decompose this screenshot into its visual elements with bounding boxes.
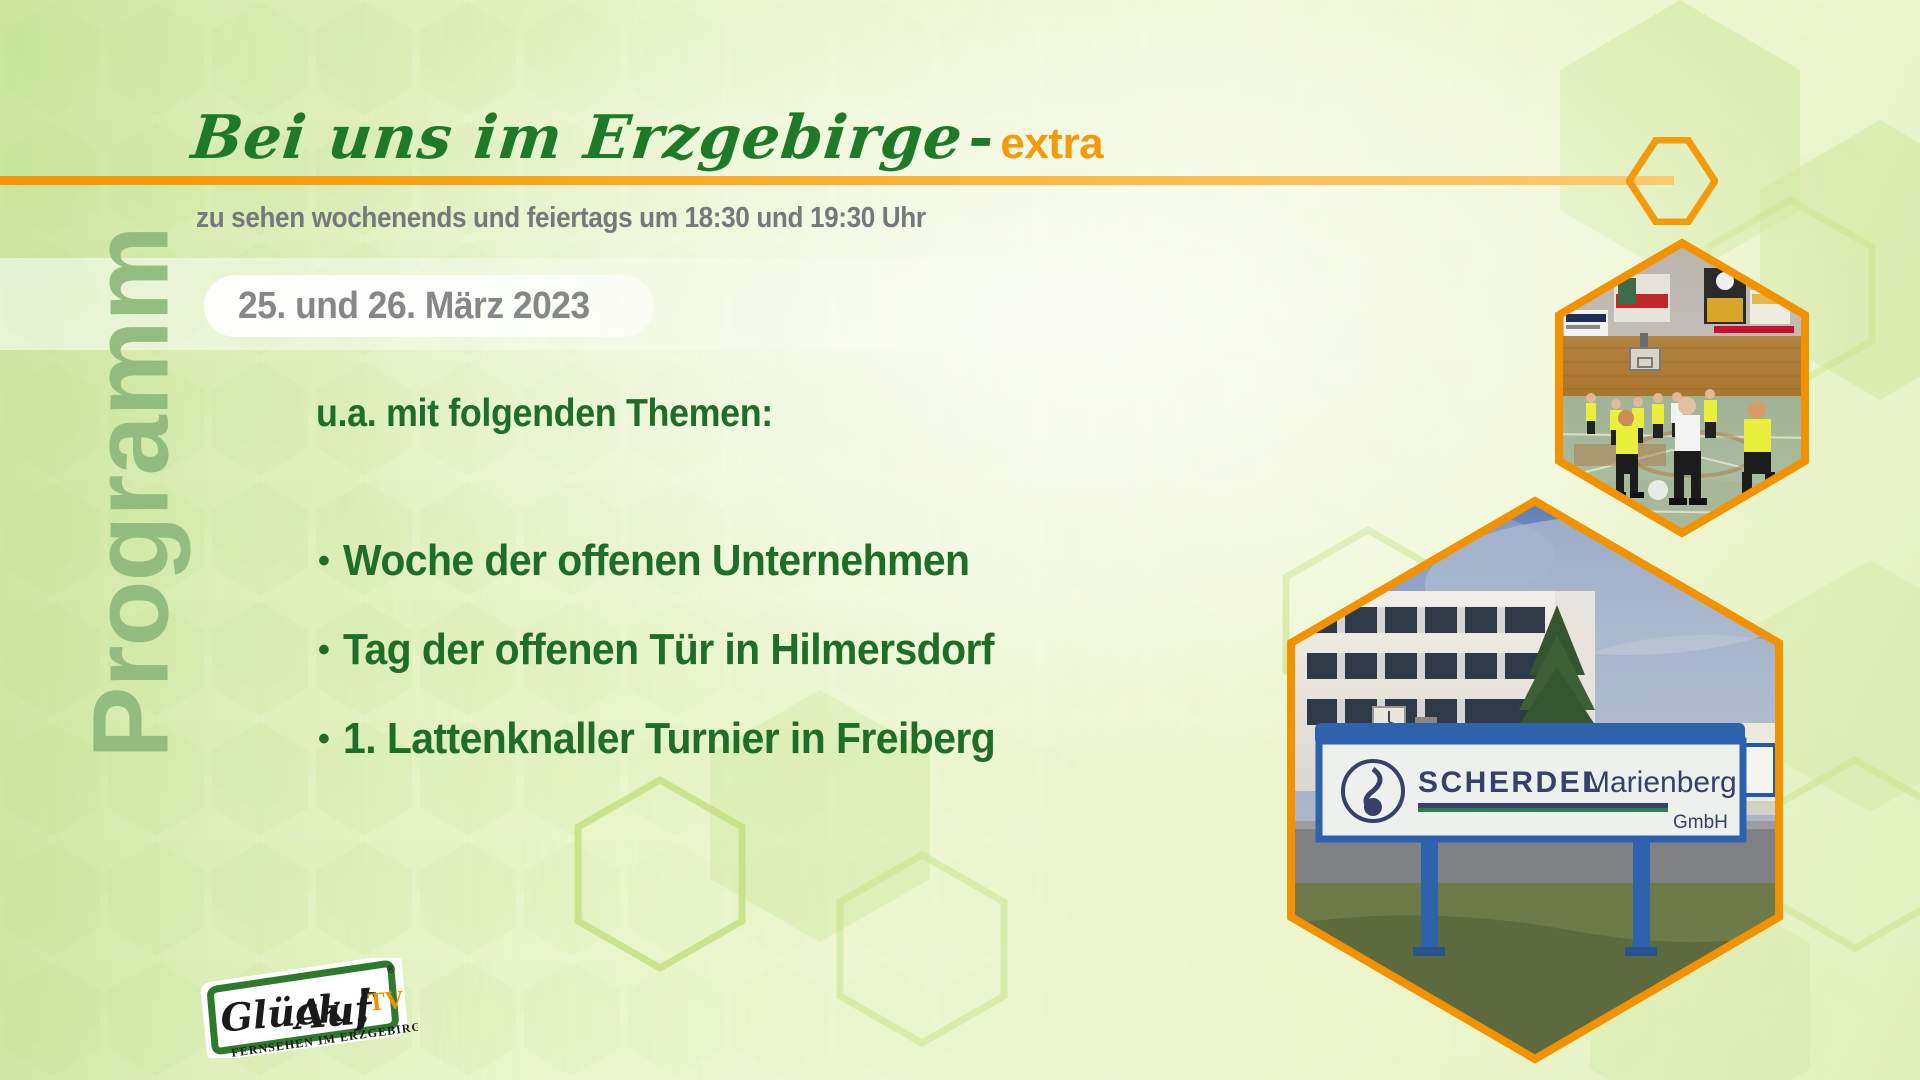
list-item-label: Tag der offenen Tür in Hilmersdorf: [343, 625, 994, 675]
photo-scherdel: SCHERDEL Marienberg GmbH: [1285, 495, 1785, 1065]
sign-location: Marienberg: [1585, 766, 1737, 799]
slide-canvas: Programm Bei uns im Erzgebirge-extra zu …: [0, 0, 1920, 1080]
header-divider-rule: [0, 176, 1674, 185]
list-item: • Tag der offenen Tür in Hilmersdorf: [318, 625, 1045, 675]
photo-futsal: [1552, 238, 1812, 538]
page-title-accent: extra: [1000, 122, 1103, 166]
logo-registered-icon: ®: [386, 963, 395, 976]
page-title-dash: -: [959, 103, 1004, 173]
glueckauf-tv-logo: Glück Auf ! TV ® FERNSEHEN IM ERZGEBIRGE: [198, 958, 418, 1058]
sign-legal-form: GmbH: [1673, 812, 1728, 833]
themes-heading: u.a. mit folgenden Themen:: [316, 392, 773, 436]
broadcast-times-subtitle: zu sehen wochenends und feiertags um 18:…: [196, 202, 926, 235]
bullet-icon: •: [318, 633, 329, 667]
logo-tv: TV: [366, 985, 405, 1017]
page-title: Bei uns im Erzgebirge-extra: [189, 108, 1107, 168]
list-item: • 1. Lattenknaller Turnier in Freiberg: [318, 714, 1045, 764]
list-item-label: 1. Lattenknaller Turnier in Freiberg: [343, 714, 995, 764]
player: [1586, 393, 1596, 434]
divider-hexagon-icon: [1626, 137, 1718, 225]
player: [1652, 393, 1664, 438]
sign-company-name: SCHERDEL: [1418, 766, 1603, 799]
list-item-label: Woche der offenen Unternehmen: [343, 536, 970, 586]
bullet-icon: •: [318, 544, 329, 578]
page-title-main: Bei uns im Erzgebirge: [188, 103, 966, 173]
date-badge-label: 25. und 26. März 2023: [238, 285, 590, 328]
themes-list: • Woche der offenen Unternehmen • Tag de…: [318, 536, 1045, 803]
bullet-icon: •: [318, 722, 329, 756]
date-badge: 25. und 26. März 2023: [204, 275, 654, 337]
list-item: • Woche der offenen Unternehmen: [318, 536, 1045, 586]
